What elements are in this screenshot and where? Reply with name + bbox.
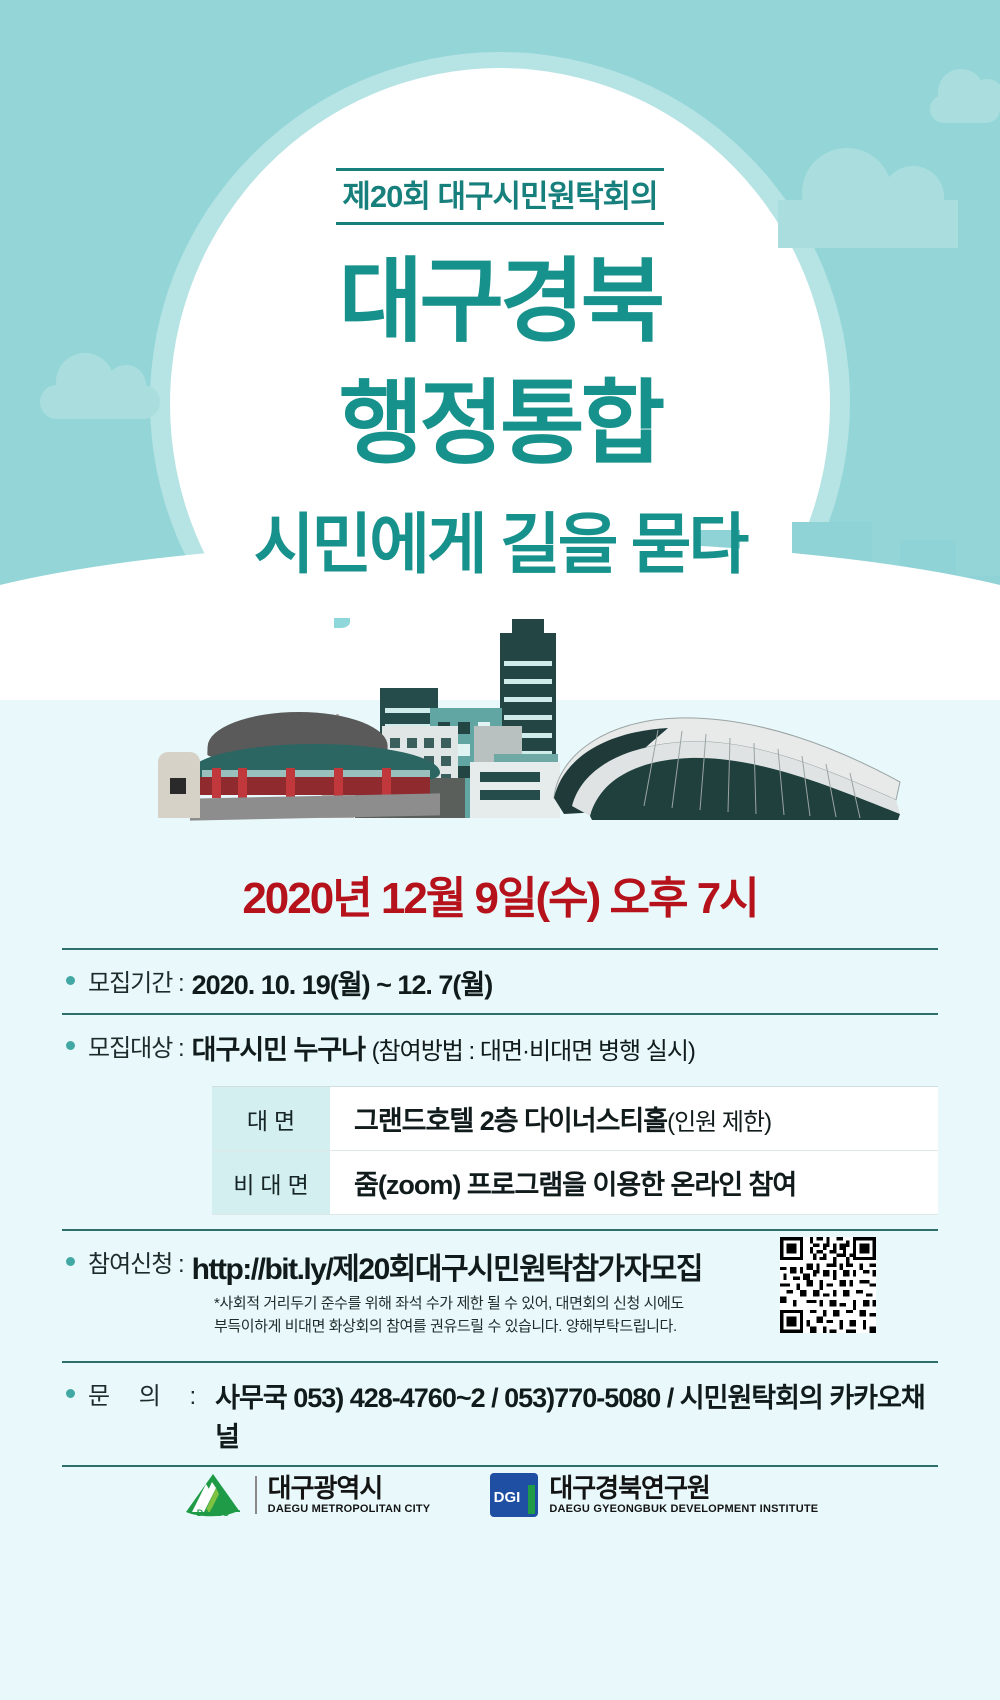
recruit-target-suffix: (참여방법 : 대면·비대면 병행 실시) bbox=[372, 1038, 695, 1065]
bullet-icon bbox=[66, 1257, 75, 1266]
kicker-frame: 제20회 대구시민원탁회의 bbox=[336, 168, 663, 225]
recruit-target-value: 대구시민 누구나 (참여방법 : 대면·비대면 병행 실시) bbox=[192, 1028, 695, 1067]
bullet-icon bbox=[66, 976, 75, 985]
recruit-target-label: 모집대상 : bbox=[88, 1028, 184, 1063]
daegu-city-logo: DAEGU 대구광역시 DAEGU METROPOLITAN CITY bbox=[182, 1472, 431, 1518]
dgi-name-kr: 대구경북연구원 bbox=[549, 1475, 818, 1502]
recruit-period-value: 2020. 10. 19(월) ~ 12. 7(월) bbox=[192, 963, 493, 1002]
dgi-name-en: DAEGU GYEONGBUK DEVELOPMENT INSTITUTE bbox=[549, 1503, 818, 1515]
daegu-logo-text: 대구광역시 DAEGU METROPOLITAN CITY bbox=[268, 1475, 431, 1514]
venue-key-offline: 대면 bbox=[212, 1087, 330, 1151]
divider-5 bbox=[62, 1465, 938, 1467]
small-teal-marker-icon bbox=[334, 618, 350, 628]
venue-table: 대면 그랜드호텔 2층 다이너스티홀(인원 제한) 비대면 줌(zoom) 프로… bbox=[212, 1086, 938, 1215]
contact-label: 문 의 : bbox=[88, 1376, 207, 1411]
bullet-icon bbox=[66, 1041, 75, 1050]
venue-value-online: 줌(zoom) 프로그램을 이용한 온라인 참여 bbox=[330, 1151, 938, 1215]
apply-label: 참여신청 : bbox=[88, 1244, 184, 1279]
dgi-square-logo-icon: DGI bbox=[490, 1473, 538, 1517]
poster-title-block: 제20회 대구시민원탁회의 대구경북 행정통합 시민에게 길을 묻다 bbox=[0, 0, 1000, 587]
daegu-mountain-logo-icon: DAEGU bbox=[182, 1472, 244, 1518]
daegu-name-kr: 대구광역시 bbox=[268, 1475, 431, 1502]
city-illustration bbox=[0, 590, 1000, 860]
page-title-line2: 행정통합 bbox=[0, 379, 1000, 469]
apply-url-link[interactable]: http://bit.ly/제20회대구시민원탁참가자모집 bbox=[192, 1244, 702, 1288]
daegu-mark-text: DAEGU bbox=[196, 1508, 229, 1518]
logo-divider bbox=[255, 1476, 257, 1514]
detail-row-recruit-period: 모집기간 : 2020. 10. 19(월) ~ 12. 7(월) bbox=[62, 950, 938, 1013]
qr-code-icon[interactable] bbox=[780, 1237, 876, 1333]
poster-content: 2020년 12월 9일(수) 오후 7시 모집기간 : 2020. 10. 1… bbox=[0, 862, 1000, 1467]
venue-value-offline-main: 그랜드호텔 2층 다이너스티홀 bbox=[354, 1106, 667, 1136]
dgi-logo-text: 대구경북연구원 DAEGU GYEONGBUK DEVELOPMENT INST… bbox=[549, 1475, 818, 1514]
opera-house-illustration bbox=[548, 702, 908, 822]
venue-key-online: 비대면 bbox=[212, 1151, 330, 1215]
dgi-mark-text: DGI bbox=[494, 1489, 521, 1506]
dgi-logo: DGI 대구경북연구원 DAEGU GYEONGBUK DEVELOPMENT … bbox=[490, 1473, 818, 1517]
table-row: 대면 그랜드호텔 2층 다이너스티홀(인원 제한) bbox=[212, 1087, 938, 1151]
page-kicker: 제20회 대구시민원탁회의 bbox=[342, 181, 657, 214]
footer-logos: DAEGU 대구광역시 DAEGU METROPOLITAN CITY DGI … bbox=[0, 1472, 1000, 1518]
hanok-palace-illustration bbox=[190, 708, 450, 818]
detail-row-contact: 문 의 : 사무국 053) 428-4760~2 / 053)770-5080… bbox=[62, 1363, 938, 1465]
venue-value-offline: 그랜드호텔 2층 다이너스티홀(인원 제한) bbox=[330, 1087, 938, 1151]
recruit-period-label: 모집기간 : bbox=[88, 963, 184, 998]
building-white-bands bbox=[470, 762, 560, 818]
table-row: 비대면 줌(zoom) 프로그램을 이용한 온라인 참여 bbox=[212, 1151, 938, 1215]
detail-row-recruit-target: 모집대상 : 대구시민 누구나 (참여방법 : 대면·비대면 병행 실시) bbox=[62, 1015, 938, 1078]
apply-block: 참여신청 : http://bit.ly/제20회대구시민원탁참가자모집 *사회… bbox=[62, 1231, 938, 1339]
contact-value: 사무국 053) 428-4760~2 / 053)770-5080 / 시민원… bbox=[215, 1376, 938, 1454]
stone-gate-icon bbox=[158, 752, 200, 818]
daegu-name-en: DAEGU METROPOLITAN CITY bbox=[268, 1503, 431, 1515]
page-subtitle: 시민에게 길을 묻다 bbox=[0, 491, 1000, 587]
bullet-icon bbox=[66, 1389, 75, 1398]
event-date-line: 2020년 12월 9일(수) 오후 7시 bbox=[62, 862, 938, 948]
recruit-target-main: 대구시민 누구나 bbox=[192, 1035, 365, 1065]
page-title-line1: 대구경북 bbox=[0, 257, 1000, 347]
venue-value-offline-suffix: (인원 제한) bbox=[667, 1109, 771, 1136]
